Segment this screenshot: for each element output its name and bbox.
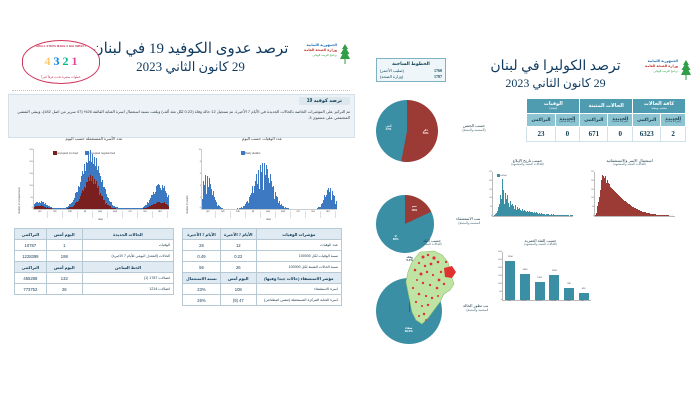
row-value: 23% xyxy=(183,284,221,295)
row-label: نسبة الوفيات لكل 100000 xyxy=(256,251,341,262)
summary-values-row: 263230671023 xyxy=(527,126,686,141)
month-tick: mar xyxy=(231,211,246,218)
header-divider xyxy=(12,90,350,91)
summary-sub-header: الجديدة(آخر 24 ساعة) xyxy=(608,113,633,126)
month-tick: oct xyxy=(291,211,306,218)
cholera-title-line2: 29 كانون الثاني 2023 xyxy=(473,76,638,91)
row-label: نسبة الحالات المثبتة لكل 100000 xyxy=(256,262,341,273)
beds-xlabel: date xyxy=(33,218,168,221)
table-row: اتصالات 121426773752 xyxy=(15,284,174,295)
age-bar-wrap: 1100 xyxy=(535,282,545,300)
cholera-summary-table: كافة الحالاتمشتبه ومثبتةالحالات المثبتةا… xyxy=(526,98,686,142)
ytick: 150 xyxy=(584,189,594,191)
awareness-num-2: 2 xyxy=(63,54,69,69)
deaths-xlabel: date xyxy=(201,218,336,221)
age-bar-value: 420 xyxy=(576,288,592,290)
summary-sub-header-row: الجديدة(آخر 24 ساعة)التراكميالجديدة(آخر … xyxy=(527,113,686,126)
row-value: 0.49 xyxy=(183,251,221,262)
th-last7-a: الأيام 7 الأخيرة xyxy=(220,229,256,240)
summary-group-header: كافة الحالاتمشتبه ومثبتة xyxy=(633,99,686,114)
water-sanitation-title-block: استعمال الاسر والاستشفائية (الحالات المث… xyxy=(582,158,677,167)
summary-sub-header: التراكمي xyxy=(527,113,555,126)
row-label: اسرة الاستشفاء xyxy=(256,284,341,295)
summary-value: 2 xyxy=(661,126,686,141)
month-tick: nov xyxy=(138,211,153,218)
lebanon-map: حسب البلد (الحالات المثبتة) xyxy=(382,250,482,328)
th-hotline: الخط الساخن xyxy=(82,262,173,273)
summary-group-header-row: كافة الحالاتمشتبه ومثبتةالحالات المثبتةا… xyxy=(527,99,686,114)
covid-indicators-table: مؤشرات الوفيات الأيام 7 الأخيرة الأيام 7… xyxy=(182,228,342,306)
row-value: 12 xyxy=(220,240,256,251)
ytick: 50 xyxy=(482,206,492,208)
summary-value: 6323 xyxy=(633,126,661,141)
cholera-page-title: ترصد الكوليرا في لبنان 29 كانون الثاني 2… xyxy=(473,58,638,91)
month-tick: feb xyxy=(48,211,63,218)
age-bar-wrap: 1600 xyxy=(520,274,530,300)
summary-group-subtitle: مشتبه ومثبتة xyxy=(637,107,681,111)
hotlines-title: الخطوط الساخنة xyxy=(380,61,442,67)
age-bar-wrap: 1550 xyxy=(549,275,559,300)
row-value: 0.22 xyxy=(220,251,256,262)
epi1-plot-area xyxy=(594,172,675,217)
age-category-label: 25-44 xyxy=(546,300,560,302)
summary-group-header: الوفيات(مثبتة) xyxy=(527,99,580,114)
map-title-block: حسب البلد (الحالات المثبتة) xyxy=(382,238,482,247)
table-row: الحالات (المعدل اليومي للأيام 7 الأخيرة)… xyxy=(15,251,174,262)
th-cumulative-2: التراكمي xyxy=(15,262,47,273)
age-category-label: 0-4 xyxy=(502,300,516,302)
pie-label: حسب الجنس(المشتبه والمثبتة) xyxy=(444,123,504,132)
month-tick: aug xyxy=(93,211,108,218)
table-row: نسبة الوفيات لكل 1000000.220.49 xyxy=(183,251,342,262)
ytick: 3000 xyxy=(490,251,502,253)
deaths-chart-caption: عدد الوفيات حسب اليوم xyxy=(182,136,342,141)
epi0-legend: الحالات xyxy=(496,174,507,177)
covid-page-title: ترصد عدوى الكوفيد 19 في لبنان 29 كانون ا… xyxy=(83,40,298,75)
moh-logo-line3: برنامج الترصد الوبائي xyxy=(645,69,678,73)
row-value: 108 xyxy=(220,284,256,295)
hotline-item[interactable]: 1760 (صليب الأحمر) xyxy=(380,68,442,73)
ytick: 200 xyxy=(482,180,492,182)
table-row: اسرة العناية المركزة المستعملة (تنفس اصط… xyxy=(183,295,342,306)
row-value: 198 xyxy=(46,251,82,262)
pie-label-subtitle: (المشتبه والمثبتة) xyxy=(444,128,504,132)
covid-box-header: ترصد كوفيد 19 xyxy=(299,97,350,105)
ytick: 50 xyxy=(584,206,594,208)
row-value: 47 (9) xyxy=(220,295,256,306)
age-category-label: 45-64 xyxy=(561,300,575,302)
age-bar-value: 780 xyxy=(561,283,577,285)
row-value: 26% xyxy=(183,295,221,306)
summary-sub-header: التراكمي xyxy=(633,113,661,126)
hotline-label: (صليب الأحمر) xyxy=(380,68,404,73)
ytick: 0 xyxy=(482,215,492,217)
age-yticks: 300025002000150010005000 xyxy=(490,252,502,300)
row-label: الوفيات xyxy=(82,240,173,251)
summary-value: 0 xyxy=(608,126,633,141)
ytick: 250 xyxy=(482,171,492,173)
epi0-yticks: 250200150100500 xyxy=(482,172,492,216)
th-yesterday: اليوم أمس xyxy=(46,229,82,240)
map-hotspot-bekaa xyxy=(444,266,456,278)
age-bar-value: 1600 xyxy=(517,269,533,271)
row-label: اتصالات 1214 xyxy=(82,284,173,295)
pie-slice-label: نعم18% xyxy=(405,205,423,211)
th-new-cases: الحالات الجديدة xyxy=(82,229,173,240)
row-value: 56 xyxy=(183,262,221,273)
pie-chart-1: حسب الجنس(المشتبه والمثبتة)ذكر53%أنثى47% xyxy=(376,100,506,162)
age-category-label: 5-14 xyxy=(517,300,531,302)
row-value: 26 xyxy=(183,240,221,251)
hotline-number: 1787 xyxy=(434,74,442,79)
row-label: الحالات (المعدل اليومي للأيام 7 الأخيرة) xyxy=(82,251,173,262)
summary-value: 23 xyxy=(527,126,555,141)
row-value: 132 xyxy=(46,273,82,284)
summary-group-header: الحالات المثبتة xyxy=(580,99,633,114)
table-row: اسرة الاستشفاء10823% xyxy=(183,284,342,295)
covid-box-paragraph: تم التركيز على المؤشرات الخاصة بالحالات … xyxy=(13,109,350,121)
age-category-label: 15-24 xyxy=(532,300,546,302)
deaths-plot-area xyxy=(201,149,337,210)
epi-curve-onset-subtitle: (الحالات المثبتة والمشتبهة) xyxy=(480,163,575,167)
beds-plot-area xyxy=(33,149,169,210)
ytick: 0 xyxy=(490,299,502,301)
cholera-dashboard-panel: ترصد الكوليرا في لبنان 29 كانون الثاني 2… xyxy=(360,0,700,408)
th-mortality-indicators: مؤشرات الوفيات xyxy=(256,229,341,240)
table-row: الوفيات110787 xyxy=(15,240,174,251)
ytick: 500 xyxy=(490,291,502,293)
row-value: 26 xyxy=(220,262,256,273)
row-label: اتصالات 1787 (1) xyxy=(82,273,173,284)
summary-sub-note: (آخر 24 ساعة) xyxy=(665,121,681,124)
th-hosp-indicator: مؤشر الاستشفاء (حالات جيدا وفيها) xyxy=(256,273,341,284)
pie-slice-pct: 99.6% xyxy=(400,330,418,333)
cholera-title-line1: ترصد الكوليرا في لبنان xyxy=(473,58,638,76)
month-tick: jul xyxy=(246,211,261,218)
moh-logo-line3: برنامج الترصد الوبائي xyxy=(304,53,337,57)
awareness-num-1: 1 xyxy=(72,54,78,69)
awareness-logo-bottom-text: خطوات صغيرة تحدث فرقاً كبيراً xyxy=(23,75,99,79)
epi1-xaxis: |||||||||||||||||||||||||| xyxy=(594,216,674,222)
awareness-campaign-logo: SMALL STEPS MAKE A BIG IMPACT 1 2 3 4 خط… xyxy=(22,40,100,84)
table-header-row: الحالات الجديدة اليوم أمس التراكمي xyxy=(15,229,174,240)
pie-slice-pct: 18% xyxy=(405,209,423,212)
ytick: 0 xyxy=(584,215,594,217)
covid-title-line2: 29 كانون الثاني 2023 xyxy=(83,59,298,75)
table-header-row: مؤشر الاستشفاء (حالات جيدا وفيها) اليوم … xyxy=(183,273,342,284)
pie-slice-pct: 47% xyxy=(379,128,397,131)
th-cumulative: التراكمي xyxy=(15,229,47,240)
awareness-num-4: 4 xyxy=(45,54,51,69)
ytick: 2000 xyxy=(490,267,502,269)
covid-cases-table: الحالات الجديدة اليوم أمس التراكمي الوفي… xyxy=(14,228,174,295)
xtick: | xyxy=(569,216,572,222)
epi0-xaxis: |||||||||||||||||||||||||| xyxy=(492,216,572,222)
th-last7-b: الأيام 7 الأخيرة xyxy=(183,229,221,240)
age-bar-wrap: 780 xyxy=(564,288,574,300)
th-occupancy: نسبة الاستعمال xyxy=(183,273,221,284)
month-tick: feb xyxy=(216,211,231,218)
month-tick: dec xyxy=(321,211,336,218)
table-row: نسبة الحالات المثبتة لكل 1000002656 xyxy=(183,262,342,273)
age-bar-value: 1550 xyxy=(546,270,562,272)
awareness-logo-top-text: SMALL STEPS MAKE A BIG IMPACT xyxy=(23,45,99,48)
xtick: | xyxy=(671,216,674,222)
month-tick: jul xyxy=(78,211,93,218)
row-value: 773752 xyxy=(15,284,47,295)
ytick: 1500 xyxy=(490,275,502,277)
covid-title-line1: ترصد عدوى الكوفيد 19 في لبنان xyxy=(83,40,298,59)
month-tick: oct xyxy=(123,211,138,218)
month-tick: sept xyxy=(108,211,123,218)
covid-dashboard-panel: ترصد عدوى الكوفيد 19 في لبنان 29 كانون ا… xyxy=(0,0,360,408)
age-category-label: 65+ xyxy=(576,300,590,302)
hotline-number: 1760 xyxy=(434,68,442,73)
beds-chart: عدد الأسرة المستعملة حسب اليوم occupied … xyxy=(14,142,174,222)
pie-slice-pct: 53% xyxy=(417,132,435,135)
moh-logo-cholera: الجمهورية اللبنانية وزارة الصحة العامة ب… xyxy=(640,58,694,84)
epi-curve-onset-title-block: حسب تاريخ الإبلاغ (الحالات المثبتة والمش… xyxy=(480,158,575,167)
month-tick: sept xyxy=(276,211,291,218)
ytick: 200 xyxy=(584,180,594,182)
deaths-month-axis: janfebmarjulaugseptoctnovdec xyxy=(201,211,336,218)
table-row: عدد الوفيات1226 xyxy=(183,240,342,251)
beds-month-axis: janfebmarjulaugseptoctnovdec xyxy=(33,211,168,218)
age-plot-area: 2450160011001550780420 xyxy=(502,252,591,301)
month-tick: aug xyxy=(261,211,276,218)
month-tick: dec xyxy=(153,211,168,218)
pie-slice-label: ذكر53% xyxy=(417,129,435,135)
covid-header: ترصد عدوى الكوفيد 19 في لبنان 29 كانون ا… xyxy=(8,38,353,88)
ytick: 2500 xyxy=(490,259,502,261)
age-bar-wrap: 420 xyxy=(579,293,589,300)
age-bar-value: 2450 xyxy=(502,256,518,258)
awareness-num-3: 3 xyxy=(54,54,60,69)
row-value: 1228399 xyxy=(15,251,47,262)
hotlines-box: الخطوط الساخنة 1760 (صليب الأحمر) 1787 (… xyxy=(376,58,446,82)
month-tick: jan xyxy=(201,211,216,218)
summary-sub-header: الجديدة(آخر 24 ساعة) xyxy=(555,113,580,126)
ytick: 150 xyxy=(482,189,492,191)
age-group-chart: حسب الفئة العمرية (الحالات المثبتة والمش… xyxy=(488,250,593,315)
awareness-logo-numbers: 1 2 3 4 xyxy=(23,54,99,69)
row-value: 26 xyxy=(46,284,82,295)
month-tick: nov xyxy=(306,211,321,218)
table-row: اتصالات 1787 (1)132455288 xyxy=(15,273,174,284)
summary-sub-note: (آخر 24 ساعة) xyxy=(612,121,628,124)
pie-slice-label: أنثى47% xyxy=(379,125,397,131)
age-group-subtitle: (الحالات المثبتة والمشتبهة) xyxy=(488,243,593,247)
water-sanitation-chart: استعمال الاسر والاستشفائية (الحالات المث… xyxy=(582,170,677,228)
row-value: 10787 xyxy=(15,240,47,251)
th-yesterday-3: اليوم أمس xyxy=(220,273,256,284)
row-label: عدد الوفيات xyxy=(256,240,341,251)
hotline-label: (وزارة الصحة) xyxy=(380,74,403,79)
ytick: 100 xyxy=(482,197,492,199)
age-bar-wrap: 2450 xyxy=(505,261,515,300)
month-tick: jan xyxy=(33,211,48,218)
map-subtitle: (الحالات المثبتة) xyxy=(382,243,482,247)
moh-logo-covid: الجمهورية اللبنانية وزارة الصحة العامة ب… xyxy=(299,42,353,68)
age-bar-value: 1100 xyxy=(532,277,548,279)
summary-value: 0 xyxy=(555,126,580,141)
ytick: 250 xyxy=(584,171,594,173)
covid-summary-box: ترصد كوفيد 19 تم التركيز على المؤشرات ال… xyxy=(8,94,355,138)
ytick: 100 xyxy=(584,197,594,199)
summary-sub-note: (آخر 24 ساعة) xyxy=(560,121,576,124)
water-sanitation-subtitle: (الحالات المثبتة والمشتبهة) xyxy=(582,163,677,167)
summary-value: 671 xyxy=(580,126,608,141)
age-xaxis: 0-45-1415-2425-4445-6465+ xyxy=(502,300,590,302)
lebanon-map-svg xyxy=(382,250,482,326)
month-tick: mar xyxy=(63,211,78,218)
epi0-plot-area xyxy=(492,172,573,217)
summary-group-subtitle: (مثبتة) xyxy=(531,107,575,111)
summary-sub-header: التراكمي xyxy=(580,113,608,126)
row-value: 1 xyxy=(46,240,82,251)
summary-sub-header: الجديدة(آخر 24 ساعة) xyxy=(661,113,686,126)
age-group-title-block: حسب الفئة العمرية (الحالات المثبتة والمش… xyxy=(488,238,593,247)
table-header-row: الخط الساخن اليوم أمس التراكمي xyxy=(15,262,174,273)
epi-curve-onset-chart: حسب تاريخ الإبلاغ (الحالات المثبتة والمش… xyxy=(480,170,575,228)
row-label: اسرة العناية المركزة المستعملة (تنفس اصط… xyxy=(256,295,341,306)
hotline-item[interactable]: 1787 (وزارة الصحة) xyxy=(380,74,442,79)
row-value: 455288 xyxy=(15,273,47,284)
deaths-chart: عدد الوفيات حسب اليوم Daily deaths numbe… xyxy=(182,142,342,222)
ytick: 1000 xyxy=(490,283,502,285)
table-header-row: مؤشرات الوفيات الأيام 7 الأخيرة الأيام 7… xyxy=(183,229,342,240)
beds-chart-caption: عدد الأسرة المستعملة حسب اليوم xyxy=(14,136,174,141)
th-yesterday-2: اليوم أمس xyxy=(46,262,82,273)
epi1-yticks: 250200150100500 xyxy=(584,172,594,216)
